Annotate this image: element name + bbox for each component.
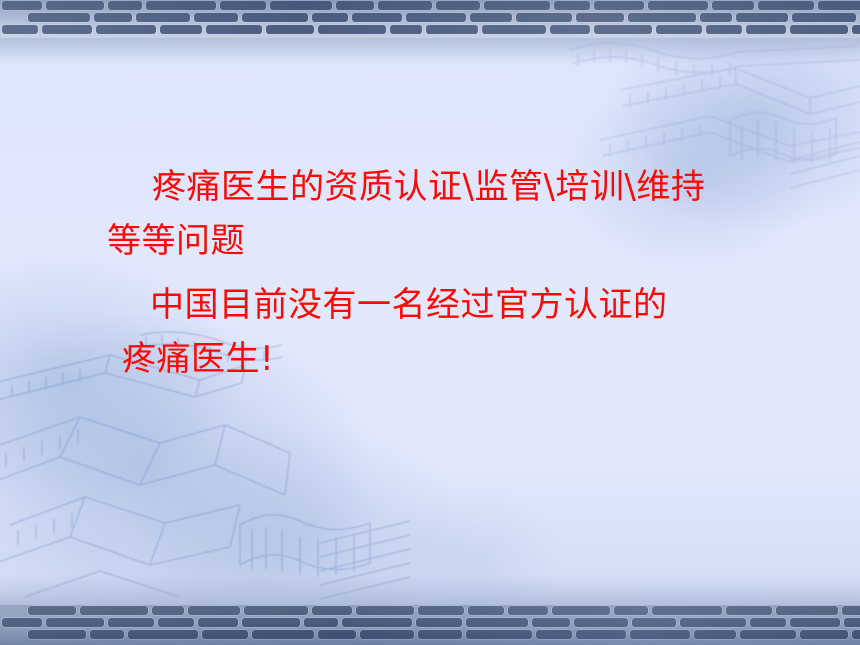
brick: [852, 630, 860, 639]
brick: [818, 1, 860, 10]
brick: [694, 630, 736, 639]
brick: [336, 1, 374, 10]
brick: [750, 618, 786, 627]
brick: [136, 13, 190, 22]
brick: [418, 630, 462, 639]
brick: [342, 618, 412, 627]
brick: [706, 25, 742, 34]
brick: [852, 25, 860, 34]
brick: [108, 1, 142, 10]
bottom-brick-border: [0, 605, 860, 645]
brick: [406, 13, 466, 22]
brick: [128, 630, 198, 639]
brick: [842, 606, 860, 615]
brick: [466, 630, 532, 639]
brick: [146, 1, 216, 10]
brick: [740, 630, 796, 639]
brick: [2, 25, 38, 34]
brick: [158, 618, 194, 627]
brick: [508, 606, 548, 615]
brick: [594, 25, 652, 34]
slide-body-text: 疼痛医生的资质认证\监管\培训\维持 等等问题 中国目前没有一名经过官方认证的 …: [0, 160, 860, 386]
brick: [576, 630, 626, 639]
brick: [244, 606, 308, 615]
brick: [352, 13, 402, 22]
brick: [96, 25, 156, 34]
brick: [242, 618, 300, 627]
brick: [628, 13, 696, 22]
brick: [80, 606, 148, 615]
brick: [360, 630, 414, 639]
brick: [198, 618, 238, 627]
brick: [436, 1, 480, 10]
brick: [90, 630, 124, 639]
brick: [312, 606, 352, 615]
brick: [28, 13, 90, 22]
body-line-1: 疼痛医生的资质认证\监管\培训\维持: [0, 160, 860, 214]
brick: [188, 606, 240, 615]
brick: [304, 618, 338, 627]
brick: [550, 25, 590, 34]
brick: [152, 606, 184, 615]
brick: [712, 1, 754, 10]
brick: [270, 1, 332, 10]
brick-row: [0, 629, 860, 641]
brick: [516, 13, 572, 22]
brick: [700, 13, 732, 22]
brick: [552, 606, 610, 615]
brick: [482, 25, 546, 34]
brick: [614, 606, 648, 615]
brick: [46, 1, 104, 10]
brick: [252, 630, 314, 639]
brick: [466, 618, 528, 627]
brick: [160, 25, 202, 34]
brick: [2, 1, 42, 10]
brick: [390, 25, 422, 34]
brick: [2, 618, 42, 627]
brick-row: [0, 24, 860, 36]
brick: [426, 25, 478, 34]
body-line-4: 疼痛医生!: [0, 332, 860, 386]
brick: [574, 618, 628, 627]
brick: [576, 13, 624, 22]
brick-row: [0, 0, 860, 12]
brick: [356, 606, 414, 615]
brick: [46, 618, 104, 627]
brick: [318, 25, 386, 34]
body-line-2: 等等问题: [0, 214, 860, 268]
brick-row: [0, 605, 860, 617]
presentation-slide: 疼痛医生的资质认证\监管\培训\维持 等等问题 中国目前没有一名经过官方认证的 …: [0, 0, 860, 645]
brick: [220, 1, 266, 10]
top-brick-border: [0, 0, 860, 38]
brick: [776, 606, 838, 615]
brick: [680, 618, 746, 627]
brick: [594, 1, 644, 10]
brick: [844, 618, 860, 627]
brick: [108, 618, 154, 627]
brick: [532, 618, 570, 627]
brick: [194, 13, 238, 22]
brick: [726, 606, 772, 615]
brick: [630, 630, 690, 639]
brick: [206, 25, 262, 34]
brick: [656, 25, 702, 34]
brick: [536, 630, 572, 639]
brick: [648, 1, 708, 10]
brick: [94, 13, 132, 22]
brick: [554, 1, 590, 10]
brick: [758, 1, 814, 10]
brick: [790, 25, 848, 34]
brick-row: [0, 12, 860, 24]
brick: [790, 618, 840, 627]
brick: [242, 13, 308, 22]
brick: [800, 630, 848, 639]
body-line-3: 中国目前没有一名经过官方认证的: [0, 278, 860, 332]
brick: [312, 13, 348, 22]
brick: [652, 606, 722, 615]
brick: [736, 13, 788, 22]
brick: [418, 606, 464, 615]
brick: [470, 13, 512, 22]
brick: [28, 630, 86, 639]
brick: [266, 25, 314, 34]
brick: [28, 606, 76, 615]
brick: [202, 630, 248, 639]
brick: [484, 1, 550, 10]
brick: [746, 25, 786, 34]
brick: [468, 606, 504, 615]
brick: [632, 618, 676, 627]
brick: [378, 1, 432, 10]
brick: [416, 618, 462, 627]
brick: [792, 13, 856, 22]
brick: [318, 630, 356, 639]
brick-row: [0, 617, 860, 629]
brick: [42, 25, 92, 34]
